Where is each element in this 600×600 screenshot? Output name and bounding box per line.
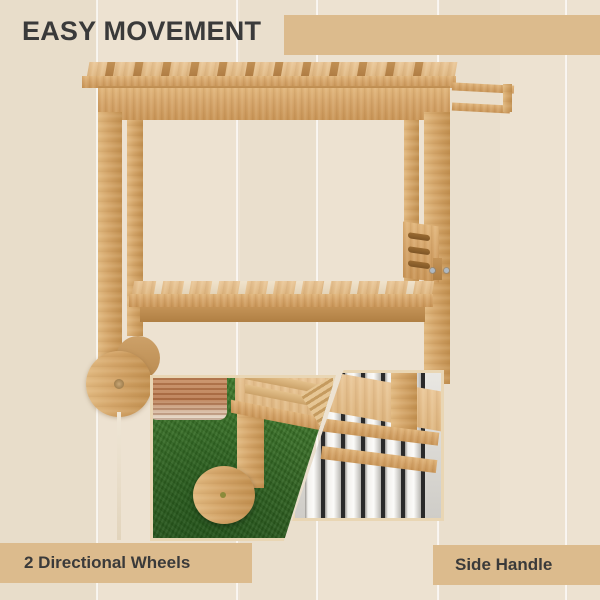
lower-shelf-deck	[132, 281, 434, 295]
caption-handle: Side Handle	[433, 545, 600, 585]
leg-front-left	[98, 112, 122, 362]
product-feature-image: EASY MOVEMENT	[0, 0, 600, 600]
terracotta-pot	[150, 375, 227, 420]
caption-wheels: 2 Directional Wheels	[0, 543, 252, 583]
screw-lower	[444, 268, 449, 273]
side-handle-arm-lower	[452, 102, 510, 113]
wheel-axle-shadow	[117, 412, 121, 540]
caption-handle-label: Side Handle	[455, 555, 552, 575]
inset-wheel-hub	[220, 492, 226, 498]
tabletop-apron	[98, 88, 450, 120]
screw-upper	[430, 268, 435, 273]
lower-shelf-apron	[140, 307, 425, 322]
caption-wheels-label: 2 Directional Wheels	[24, 553, 190, 573]
lower-shelf-front-edge	[129, 294, 433, 307]
wheel-hub	[114, 379, 124, 389]
side-handle-grip	[503, 84, 512, 112]
